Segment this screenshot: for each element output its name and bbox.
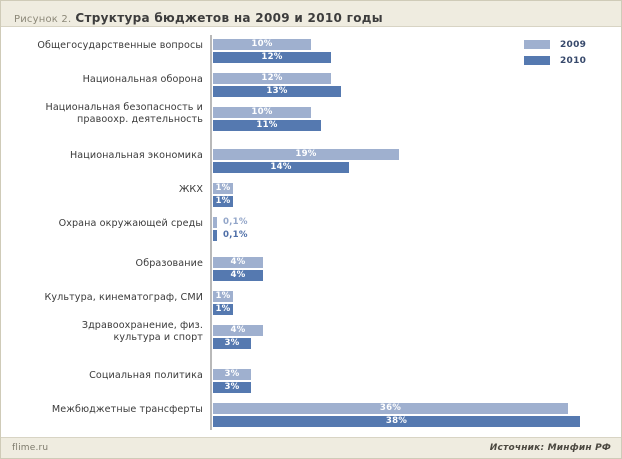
- bar-value-2009: 3%: [212, 368, 252, 381]
- bar-value-2010: 11%: [212, 119, 322, 132]
- page-title: Структура бюджетов на 2009 и 2010 годы: [75, 11, 383, 25]
- bar-value-2009: 4%: [212, 256, 264, 269]
- bar-value-2009: 19%: [212, 148, 400, 161]
- bar-value-2010: 13%: [212, 85, 342, 98]
- bar-value-2010: 1%: [212, 303, 234, 316]
- bar-value-2010: 14%: [212, 161, 350, 174]
- bar-value-2009: 1%: [212, 290, 234, 303]
- bar-value-2010: 1%: [212, 195, 234, 208]
- category-label: ЖКХ: [7, 184, 203, 196]
- bar-value-2009: 4%: [212, 324, 264, 337]
- legend-label-2010: 2010: [560, 56, 586, 66]
- bar-rect-2010: [212, 229, 218, 242]
- legend-swatch-2010: [523, 55, 551, 66]
- bar-value-2009: 36%: [212, 402, 569, 415]
- category-label-line: Охрана окружающей среды: [7, 218, 203, 230]
- category-label-line: ЖКХ: [7, 184, 203, 196]
- category-label-line: Социальная политика: [7, 370, 203, 382]
- category-label: Образование: [7, 258, 203, 270]
- bar-value-2009: 0,1%: [223, 216, 248, 229]
- legend-item-2010: 2010: [523, 54, 609, 67]
- category-label: Национальная безопасность иправоохр. дея…: [7, 102, 203, 125]
- figure-number-label: Рисунок 2.: [14, 14, 71, 25]
- category-label: Здравоохранение, физ.культура и спорт: [7, 320, 203, 343]
- legend-item-2009: 2009: [523, 38, 609, 51]
- category-label-line: Национальная экономика: [7, 150, 203, 162]
- legend-swatch-2009: [523, 39, 551, 50]
- bar-rect-2009: [212, 216, 218, 229]
- plot-area: 2009 2010 Общегосударственные вопросы10%…: [1, 28, 622, 438]
- figure-header-band: Рисунок 2.Структура бюджетов на 2009 и 2…: [1, 1, 622, 27]
- legend-label-2009: 2009: [560, 40, 586, 50]
- category-label: Охрана окружающей среды: [7, 218, 203, 230]
- category-label: Национальная оборона: [7, 74, 203, 86]
- category-label-line: культура и спорт: [7, 332, 203, 344]
- category-label-line: Здравоохранение, физ.: [7, 320, 203, 332]
- bar-value-2010: 3%: [212, 337, 252, 350]
- category-label-line: Общегосударственные вопросы: [7, 40, 203, 52]
- bar-value-2009: 10%: [212, 106, 312, 119]
- figure-header-text: Рисунок 2.Структура бюджетов на 2009 и 2…: [14, 7, 383, 26]
- bar-value-2009: 1%: [212, 182, 234, 195]
- chart-figure: Рисунок 2.Структура бюджетов на 2009 и 2…: [0, 0, 622, 459]
- source-credit: Источник: Минфин РФ: [490, 443, 611, 453]
- category-label-line: Образование: [7, 258, 203, 270]
- category-label: Социальная политика: [7, 370, 203, 382]
- category-label-line: Национальная оборона: [7, 74, 203, 86]
- bar-value-2009: 12%: [212, 72, 332, 85]
- bar-value-2010: 3%: [212, 381, 252, 394]
- bar-value-2010: 0,1%: [223, 229, 248, 242]
- chart-legend: 2009 2010: [523, 38, 609, 70]
- category-label: Межбюджетные трансферты: [7, 404, 203, 416]
- category-label-line: Межбюджетные трансферты: [7, 404, 203, 416]
- category-label-line: Культура, кинематограф, СМИ: [7, 292, 203, 304]
- site-watermark: flime.ru: [12, 443, 48, 453]
- category-label: Культура, кинематограф, СМИ: [7, 292, 203, 304]
- category-label-line: Национальная безопасность и: [7, 102, 203, 114]
- category-label-line: правоохр. деятельность: [7, 114, 203, 126]
- category-label: Общегосударственные вопросы: [7, 40, 203, 52]
- bar-value-2010: 4%: [212, 269, 264, 282]
- bar-value-2010: 12%: [212, 51, 332, 64]
- bar-value-2009: 10%: [212, 38, 312, 51]
- figure-footer-band: flime.ru Источник: Минфин РФ: [1, 437, 622, 458]
- category-label: Национальная экономика: [7, 150, 203, 162]
- bar-value-2010: 38%: [212, 415, 581, 428]
